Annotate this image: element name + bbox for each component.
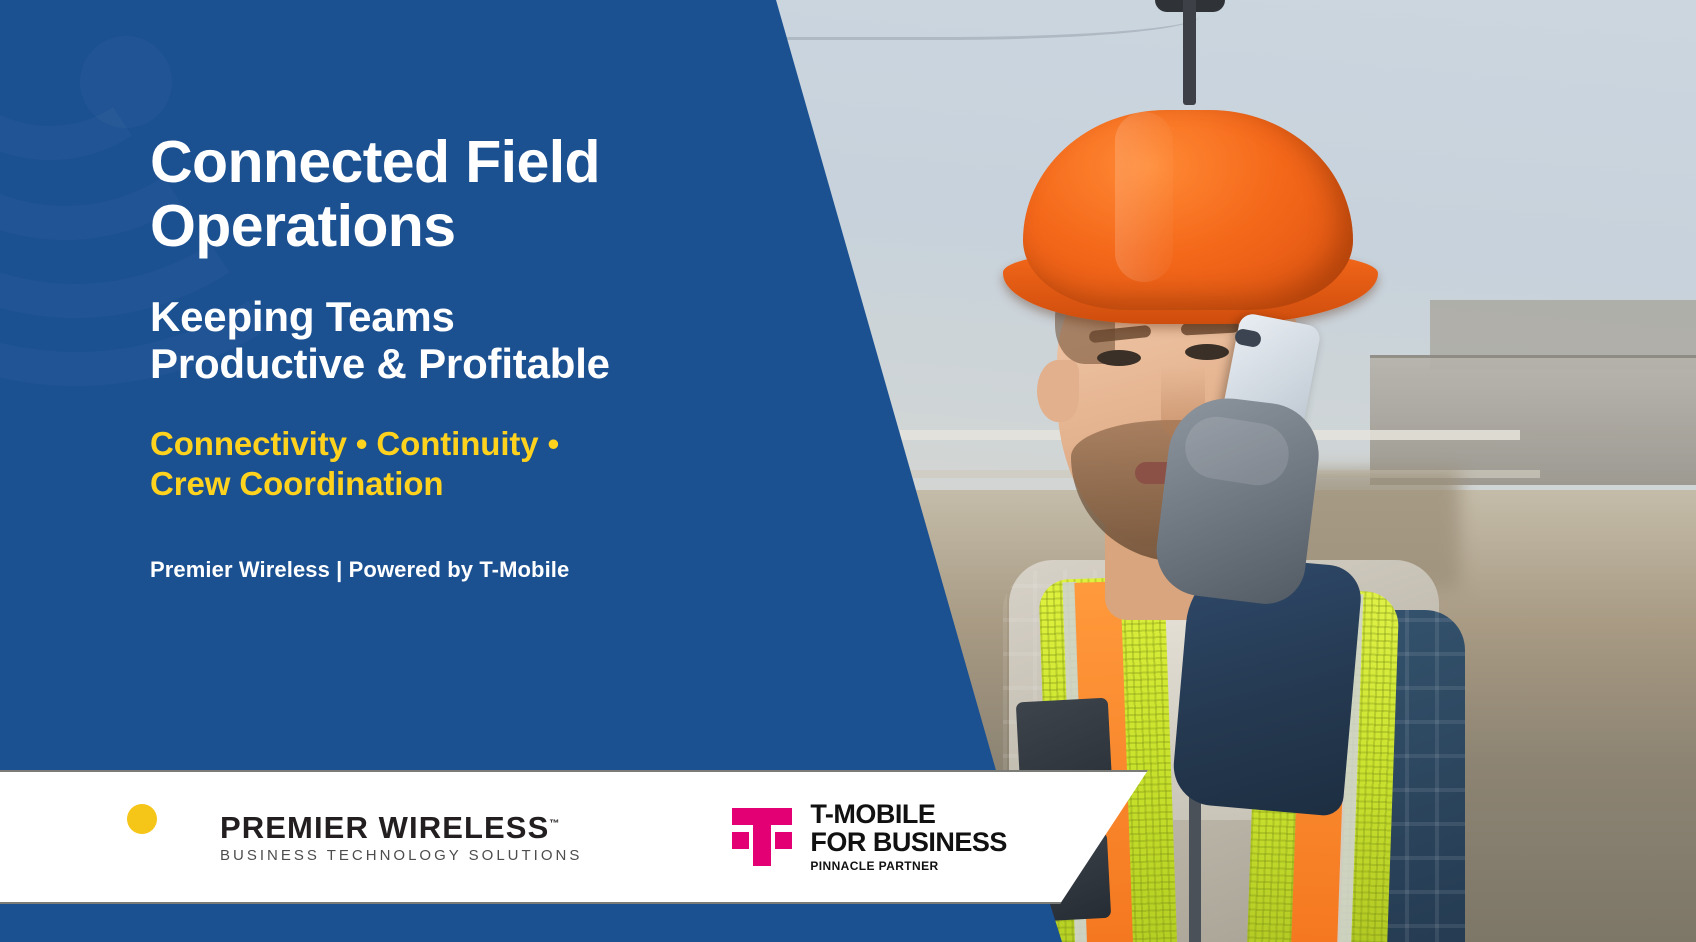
hard-hat-ridge: [1115, 112, 1173, 282]
slide-attribution: Premier Wireless | Powered by T-Mobile: [150, 557, 770, 583]
premier-wireless-logo: PREMIER WIRELESS™ BUSINESS TECHNOLOGY SO…: [110, 800, 582, 874]
slide-copy: Connected Field Operations Keeping Teams…: [150, 130, 770, 583]
page-title: Connected Field Operations: [150, 130, 770, 259]
tmobile-square-right: [775, 832, 792, 849]
tmobile-t-stem: [753, 808, 771, 866]
tmobile-line-2: FOR BUSINESS: [810, 829, 1007, 857]
marketing-slide: Connected Field Operations Keeping Teams…: [0, 0, 1696, 942]
trademark-symbol: ™: [549, 818, 559, 829]
premier-wireless-name: PREMIER WIRELESS™: [220, 812, 582, 843]
premier-wireless-tagline: BUSINESS TECHNOLOGY SOLUTIONS: [220, 848, 582, 863]
tmobile-for-business-logo: T-MOBILE FOR BUSINESS PINNACLE PARTNER: [732, 801, 1007, 873]
sun-dot-icon: [127, 804, 157, 834]
bottom-blue-strip: [0, 904, 1100, 942]
slide-tagline: Connectivity • Continuity • Crew Coordin…: [150, 424, 770, 506]
worker-eye-left: [1097, 350, 1141, 366]
tmobile-wordmark: T-MOBILE FOR BUSINESS PINNACLE PARTNER: [810, 801, 1007, 873]
worker-ear: [1037, 360, 1079, 422]
decorative-arc-dot: [80, 36, 172, 128]
footer-logos: PREMIER WIRELESS™ BUSINESS TECHNOLOGY SO…: [0, 800, 1007, 874]
premier-wireless-wordmark: PREMIER WIRELESS™ BUSINESS TECHNOLOGY SO…: [220, 812, 582, 863]
tmobile-pinnacle-partner: PINNACLE PARTNER: [810, 859, 1007, 873]
tmobile-line-1: T-MOBILE: [810, 801, 1007, 829]
premier-wireless-name-text: PREMIER WIRELESS: [220, 810, 549, 845]
slide-subheading: Keeping Teams Productive & Profitable: [150, 293, 770, 388]
vest-zipper: [1189, 790, 1201, 942]
footer-logo-bar: PREMIER WIRELESS™ BUSINESS TECHNOLOGY SO…: [0, 770, 1150, 904]
tmobile-square-left: [732, 832, 749, 849]
hard-hat: [1023, 110, 1353, 310]
tmobile-t-icon: [732, 808, 792, 866]
worker-eye-right: [1185, 344, 1229, 360]
premier-wireless-swoosh-icon: [110, 800, 192, 874]
